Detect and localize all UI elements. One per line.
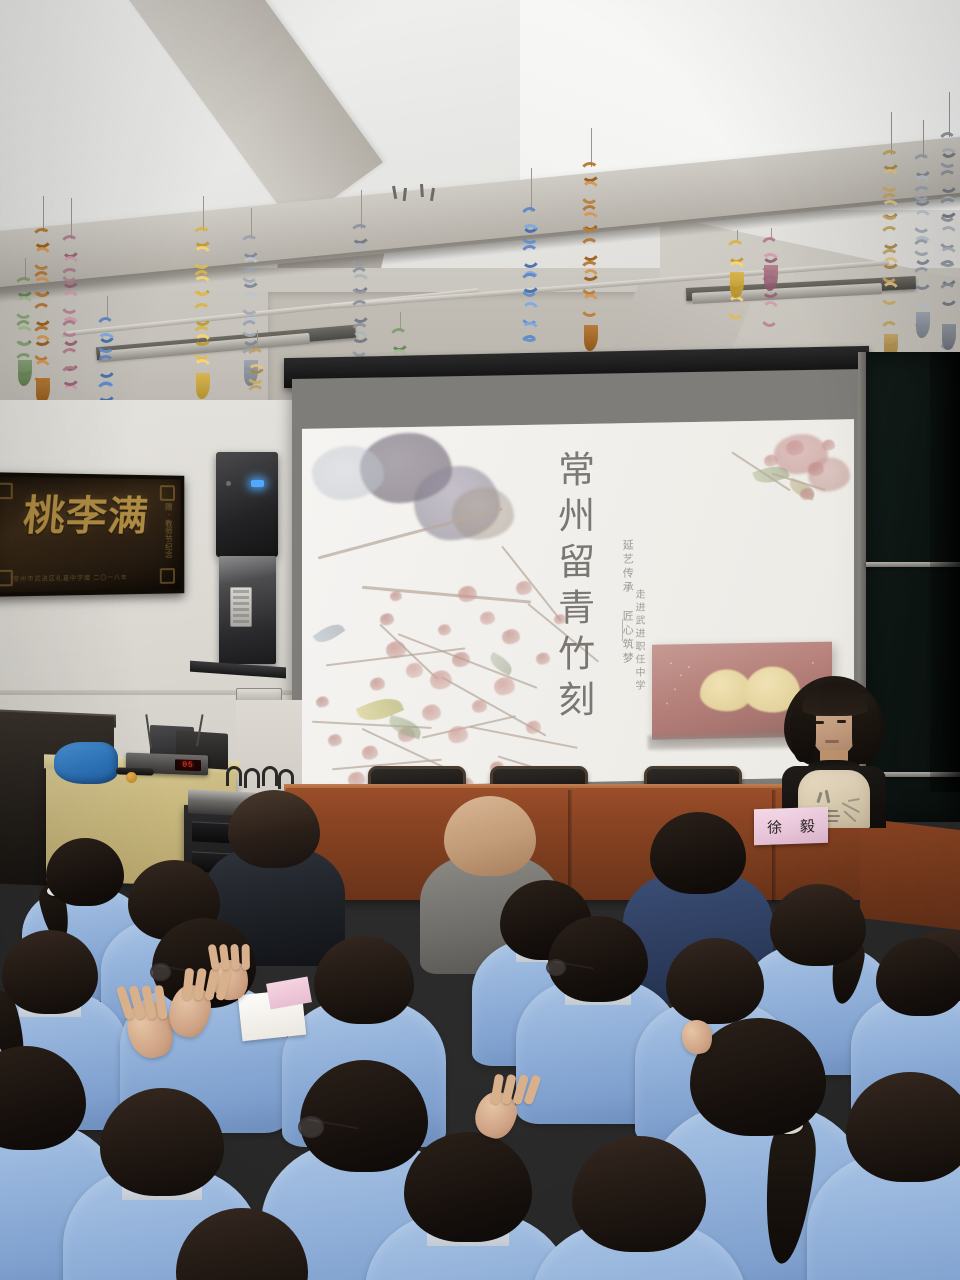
person-head bbox=[228, 790, 320, 868]
eyeglasses-lens bbox=[298, 1116, 324, 1138]
person-head bbox=[314, 936, 414, 1024]
blossom-14 bbox=[516, 581, 532, 595]
speaker-nameplate: 徐 毅 bbox=[754, 807, 828, 846]
person-head bbox=[876, 938, 960, 1016]
blossom-8 bbox=[362, 745, 378, 759]
blossom-2 bbox=[370, 677, 385, 690]
plaque-side-text: 赠·教师节纪念 bbox=[164, 503, 173, 559]
hanging-streamer bbox=[760, 228, 782, 283]
hand-finger bbox=[230, 944, 240, 970]
slide-subtitle-divider bbox=[622, 619, 623, 641]
nameplate-text: 徐 毅 bbox=[760, 814, 822, 837]
microphone-head-icon bbox=[126, 772, 137, 783]
stage-table-right bbox=[860, 818, 960, 930]
person-head bbox=[404, 1132, 532, 1242]
speaker-knob bbox=[226, 481, 231, 486]
hanging-streamer bbox=[580, 128, 602, 343]
plaque-main-text: 桃李满 bbox=[21, 495, 150, 537]
blackboard-shadow bbox=[930, 352, 960, 792]
presenter-mouth bbox=[825, 740, 839, 743]
person-head bbox=[770, 884, 866, 966]
person-head bbox=[548, 916, 648, 1002]
blossom-1 bbox=[406, 663, 423, 678]
hanging-streamer bbox=[938, 92, 960, 342]
pink-handout bbox=[266, 977, 312, 1010]
hanging-streamer bbox=[192, 196, 214, 391]
eyeglasses-lens bbox=[150, 963, 171, 981]
honor-plaque: 桃李满 赠·教师节纪念 常州市武进区礼嘉中学赠 二〇一八年 bbox=[0, 472, 184, 597]
blossom-9 bbox=[472, 700, 487, 713]
hanging-streamer bbox=[14, 258, 36, 378]
wall-speaker bbox=[216, 452, 278, 557]
table-seam-2 bbox=[772, 790, 776, 902]
plaque-bottom-text: 常州市武进区礼嘉中学赠 二〇一八年 bbox=[13, 573, 128, 584]
presenter-eye-right bbox=[837, 720, 846, 723]
eyeglasses-lens bbox=[546, 959, 566, 976]
hanging-streamer bbox=[912, 120, 934, 330]
hand-finger bbox=[242, 944, 250, 970]
presenter-eye-left bbox=[815, 721, 824, 724]
slide-main-title: 常州留青竹刻 bbox=[550, 450, 594, 727]
speaker-power-led-icon bbox=[251, 480, 264, 487]
person-head bbox=[666, 938, 764, 1024]
hanging-streamer bbox=[880, 112, 902, 352]
person-head bbox=[46, 838, 124, 906]
blossom-20 bbox=[526, 721, 541, 734]
slide-subtitle-2: 走进武进职任中学 bbox=[632, 589, 645, 693]
hanging-streamer bbox=[726, 230, 748, 290]
blossom-12 bbox=[480, 611, 495, 624]
hanging-streamer bbox=[60, 198, 82, 428]
amplifier-faceplate bbox=[230, 587, 252, 627]
person-head bbox=[2, 930, 98, 1014]
presenter bbox=[778, 676, 890, 828]
wall-amplifier[interactable] bbox=[219, 556, 276, 664]
blue-cloth bbox=[54, 742, 118, 784]
photo-scene: 桃李满 赠·教师节纪念 常州市武进区礼嘉中学赠 二〇一八年 常州留青竹刻 延艺传… bbox=[0, 0, 960, 1280]
projector-screen: 常州留青竹刻 延艺传承 匠心筑梦 走进武进职任中学 bbox=[302, 419, 854, 787]
blossom-28 bbox=[808, 462, 824, 476]
person-head bbox=[444, 796, 536, 876]
mic-receiver-display: 05 bbox=[175, 759, 201, 771]
person-head bbox=[650, 812, 746, 894]
